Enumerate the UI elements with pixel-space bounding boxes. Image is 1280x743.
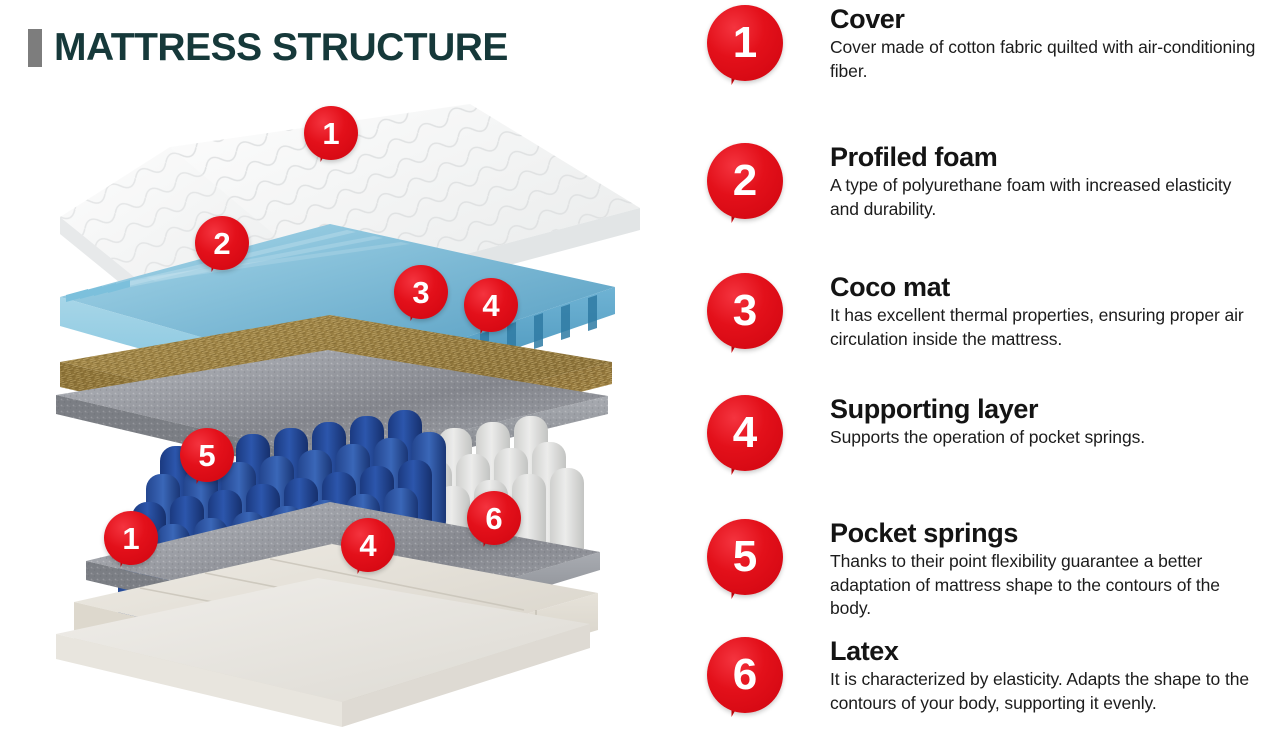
marker-number: 6: [467, 491, 521, 545]
infographic-root: MATTRESS STRUCTURE: [0, 0, 1280, 743]
marker-number: 6: [707, 637, 783, 713]
legend-list: 1 Cover Cover made of cotton fabric quil…: [660, 0, 1280, 743]
legend-text-block: Cover Cover made of cotton fabric quilte…: [830, 4, 1260, 83]
legend-marker-3[interactable]: 3: [706, 272, 784, 350]
marker-number: 4: [341, 518, 395, 572]
legend-title: Coco mat: [830, 272, 1260, 302]
legend-text-block: Pocket springs Thanks to their point fle…: [830, 518, 1260, 620]
legend-description: It has excellent thermal properties, ens…: [830, 304, 1260, 351]
mattress-illustration: 1 2 3 4 5 1 4 6: [0, 62, 660, 743]
marker-number: 4: [707, 395, 783, 471]
marker-number: 1: [304, 106, 358, 160]
legend-marker-1[interactable]: 1: [706, 4, 784, 82]
marker-number: 4: [464, 278, 518, 332]
legend-title: Latex: [830, 636, 1260, 666]
marker-number: 5: [707, 519, 783, 595]
legend-description: Cover made of cotton fabric quilted with…: [830, 36, 1260, 83]
legend-marker-6[interactable]: 6: [706, 636, 784, 714]
marker-number: 2: [707, 143, 783, 219]
marker-number: 3: [394, 265, 448, 319]
legend-description: Thanks to their point flexibility guaran…: [830, 550, 1260, 620]
legend-text-block: Profiled foam A type of polyurethane foa…: [830, 142, 1260, 221]
legend-marker-2[interactable]: 2: [706, 142, 784, 220]
legend-title: Pocket springs: [830, 518, 1260, 548]
legend-text-block: Supporting layer Supports the operation …: [830, 394, 1260, 450]
legend-title: Cover: [830, 4, 1260, 34]
title-accent-bar: [28, 29, 42, 67]
marker-number: 5: [180, 428, 234, 482]
legend-description: It is characterized by elasticity. Adapt…: [830, 668, 1260, 715]
mattress-exploded-svg: [0, 62, 660, 743]
marker-number: 1: [707, 5, 783, 81]
legend-text-block: Latex It is characterized by elasticity.…: [830, 636, 1260, 715]
marker-number: 3: [707, 273, 783, 349]
legend-text-block: Coco mat It has excellent thermal proper…: [830, 272, 1260, 351]
legend-marker-5[interactable]: 5: [706, 518, 784, 596]
legend-description: Supports the operation of pocket springs…: [830, 426, 1260, 449]
marker-number: 1: [104, 511, 158, 565]
legend-marker-4[interactable]: 4: [706, 394, 784, 472]
legend-description: A type of polyurethane foam with increas…: [830, 174, 1260, 221]
legend-title: Supporting layer: [830, 394, 1260, 424]
marker-number: 2: [195, 216, 249, 270]
legend-title: Profiled foam: [830, 142, 1260, 172]
